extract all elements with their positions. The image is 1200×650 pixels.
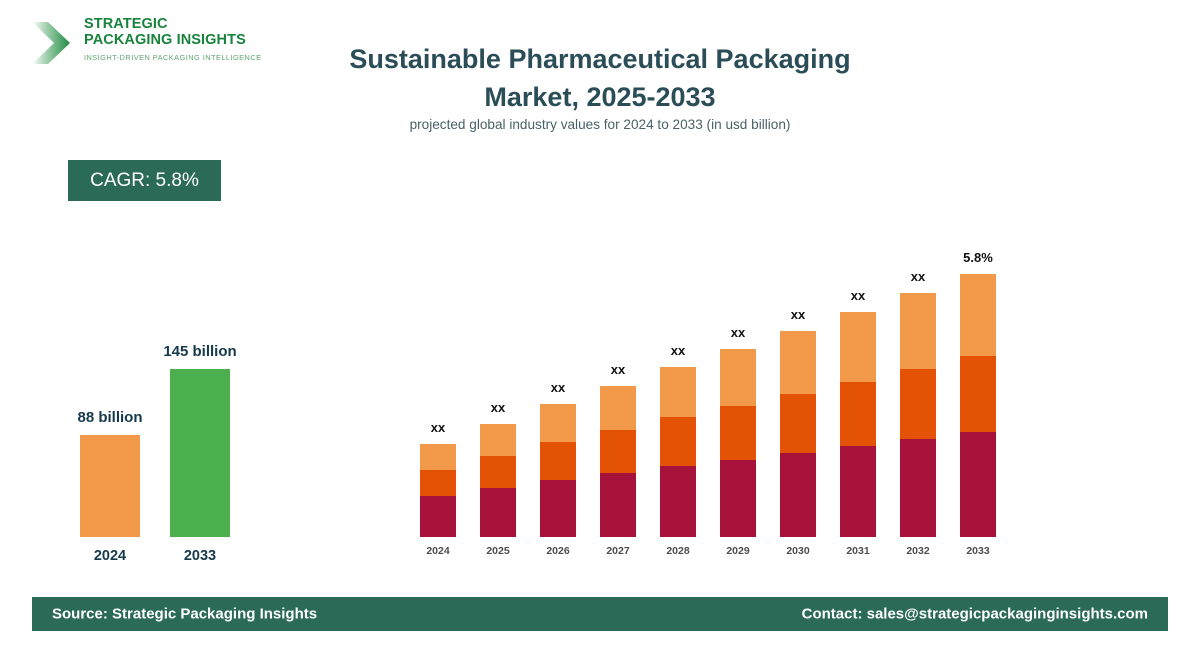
stacked-segment-segment-2-2033 bbox=[960, 356, 996, 432]
stacked-bar-2029: xx2029 bbox=[720, 349, 756, 537]
stacked-bar-2033: 5.8%2033 bbox=[960, 274, 996, 537]
yearly-stacked-forecast-chart: xx2024xx2025xx2026xx2027xx2028xx2029xx20… bbox=[400, 0, 1020, 650]
stacked-bar-top-label-2031: xx bbox=[818, 288, 898, 303]
footer-source: Source: Strategic Packaging Insights bbox=[52, 606, 317, 623]
stacked-segment-segment-2-2028 bbox=[660, 417, 696, 466]
stacked-segment-segment-2-2026 bbox=[540, 442, 576, 480]
stacked-bar-2031: xx2031 bbox=[840, 312, 876, 537]
stacked-bar-top-label-2030: xx bbox=[758, 307, 838, 322]
stacked-segment-segment-1-2025 bbox=[480, 488, 516, 537]
stacked-segment-segment-3-2024 bbox=[420, 444, 456, 470]
stacked-bar-top-label-2032: xx bbox=[878, 269, 958, 284]
infographic-canvas: STRATEGIC PACKAGING INSIGHTS INSIGHT-DRI… bbox=[0, 0, 1200, 650]
stacked-segment-segment-2-2025 bbox=[480, 456, 516, 488]
stacked-segment-segment-3-2029 bbox=[720, 349, 756, 406]
stacked-segment-segment-3-2025 bbox=[480, 424, 516, 456]
stacked-segment-segment-3-2031 bbox=[840, 312, 876, 382]
stacked-bar-2032: xx2032 bbox=[900, 293, 936, 537]
stacked-segment-segment-1-2030 bbox=[780, 453, 816, 537]
bar-value-label-2024: 88 billion bbox=[30, 409, 190, 426]
stacked-bar-top-label-2028: xx bbox=[638, 343, 718, 358]
stacked-bar-top-label-2029: xx bbox=[698, 325, 778, 340]
stacked-bar-2024: xx2024 bbox=[420, 444, 456, 537]
stacked-bar-top-label-2027: xx bbox=[578, 362, 658, 377]
stacked-segment-segment-2-2030 bbox=[780, 394, 816, 453]
stacked-bar-2027: xx2027 bbox=[600, 386, 636, 537]
bar-2024: 88 billion2024 bbox=[80, 435, 140, 537]
stacked-bar-top-label-2025: xx bbox=[458, 400, 538, 415]
stacked-segment-segment-1-2031 bbox=[840, 446, 876, 537]
stacked-segment-segment-3-2027 bbox=[600, 386, 636, 430]
stacked-segment-segment-1-2027 bbox=[600, 473, 636, 537]
stacked-bar-2030: xx2030 bbox=[780, 331, 816, 537]
stacked-bar-2028: xx2028 bbox=[660, 367, 696, 537]
footer-bar: Source: Strategic Packaging Insights Con… bbox=[32, 597, 1168, 631]
stacked-segment-segment-1-2029 bbox=[720, 460, 756, 537]
bar-value-label-2033: 145 billion bbox=[120, 343, 280, 360]
stacked-bar-top-label-2024: xx bbox=[398, 420, 478, 435]
stacked-segment-segment-2-2027 bbox=[600, 430, 636, 473]
stacked-bar-top-label-2033: 5.8% bbox=[938, 250, 1018, 265]
stacked-segment-segment-2-2032 bbox=[900, 369, 936, 439]
stacked-bar-top-label-2026: xx bbox=[518, 380, 598, 395]
stacked-segment-segment-2-2024 bbox=[420, 470, 456, 496]
endpoint-comparison-chart: 88 billion2024145 billion2033 bbox=[0, 0, 330, 650]
stacked-segment-segment-3-2033 bbox=[960, 274, 996, 356]
stacked-segment-segment-2-2029 bbox=[720, 406, 756, 460]
footer-contact: Contact: sales@strategicpackaginginsight… bbox=[802, 606, 1148, 623]
stacked-segment-segment-3-2030 bbox=[780, 331, 816, 394]
stacked-segment-segment-3-2032 bbox=[900, 293, 936, 369]
stacked-segment-segment-3-2026 bbox=[540, 404, 576, 442]
stacked-segment-segment-1-2032 bbox=[900, 439, 936, 537]
stacked-segment-segment-1-2024 bbox=[420, 496, 456, 537]
stacked-segment-segment-1-2026 bbox=[540, 480, 576, 537]
stacked-bar-2025: xx2025 bbox=[480, 424, 516, 537]
bar-2033: 145 billion2033 bbox=[170, 369, 230, 537]
bar-x-label-2033: 2033 bbox=[140, 548, 260, 564]
stacked-segment-segment-1-2028 bbox=[660, 466, 696, 537]
stacked-segment-segment-2-2031 bbox=[840, 382, 876, 446]
stacked-bar-x-label-2033: 2033 bbox=[943, 545, 1013, 557]
stacked-segment-segment-1-2033 bbox=[960, 432, 996, 537]
stacked-bar-2026: xx2026 bbox=[540, 404, 576, 537]
stacked-segment-segment-3-2028 bbox=[660, 367, 696, 417]
